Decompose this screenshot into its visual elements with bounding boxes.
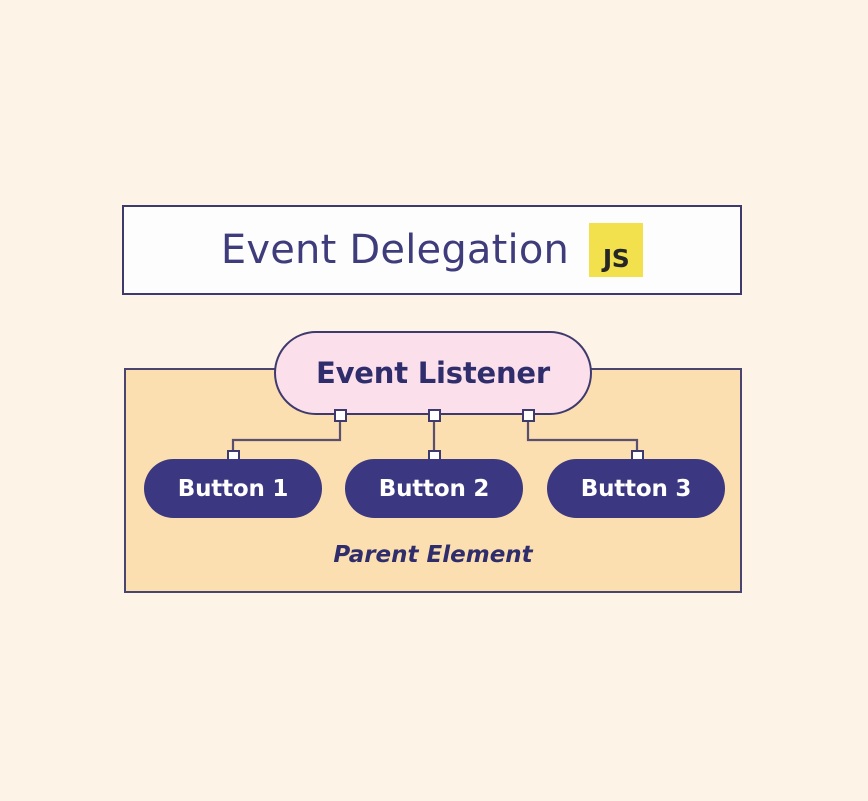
button-1[interactable]: Button 1 (144, 459, 322, 518)
button-2[interactable]: Button 2 (345, 459, 523, 518)
diagram-canvas: Event Delegation JS Parent Element Event… (0, 0, 868, 801)
title-banner: Event Delegation JS (122, 205, 742, 295)
parent-element-label: Parent Element (126, 542, 740, 568)
js-badge-label: JS (603, 246, 629, 277)
event-listener-node[interactable]: Event Listener (274, 331, 592, 415)
listener-port-1 (334, 409, 347, 422)
listener-port-2 (428, 409, 441, 422)
javascript-logo-icon: JS (589, 223, 643, 277)
button-2-label: Button 2 (379, 476, 489, 502)
page-title: Event Delegation (221, 230, 569, 270)
button-1-label: Button 1 (178, 476, 288, 502)
button-3-label: Button 3 (581, 476, 691, 502)
button-3[interactable]: Button 3 (547, 459, 725, 518)
listener-port-3 (522, 409, 535, 422)
event-listener-label: Event Listener (316, 356, 550, 390)
